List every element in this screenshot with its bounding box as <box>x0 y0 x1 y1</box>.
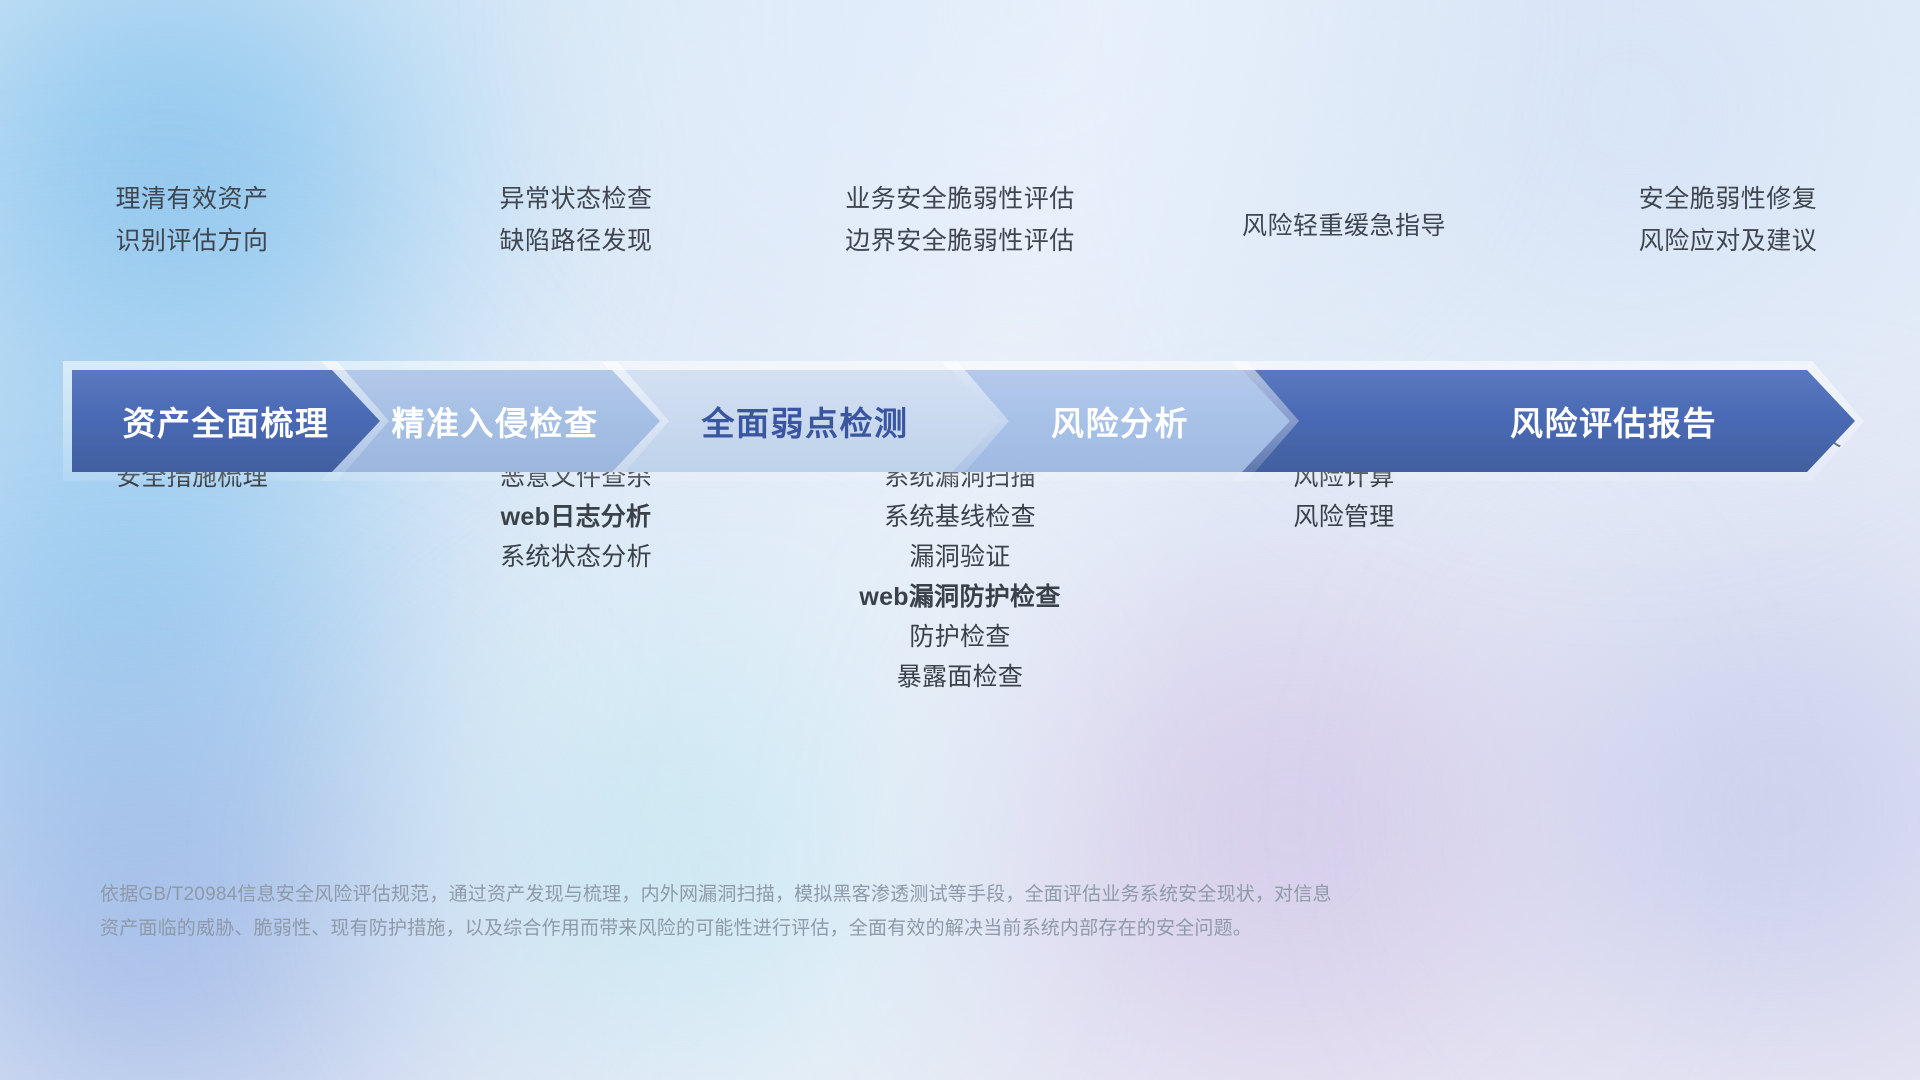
top-item: 识别评估方向 <box>115 220 268 262</box>
top-item: 缺陷路径发现 <box>499 220 652 262</box>
top-item: 风险轻重缓急指导 <box>1242 205 1446 247</box>
bottom-item: 暴露面检查 <box>897 657 1024 697</box>
bottom-item: web日志分析 <box>501 497 652 537</box>
bottom-item: 漏洞验证 <box>909 537 1010 577</box>
footer-description: 依据GB/T20984信息安全风险评估规范，通过资产发现与梳理，内外网漏洞扫描，… <box>100 878 1740 946</box>
top-column-intrusion-check: 异常状态检查 缺陷路径发现 <box>384 178 768 262</box>
chevron-label: 精准入侵检查 <box>392 397 599 445</box>
chevron-label: 全面弱点检测 <box>702 397 909 445</box>
top-item: 安全脆弱性修复 <box>1639 178 1818 220</box>
top-column-weakness-detection: 业务安全脆弱性评估 边界安全脆弱性评估 <box>768 178 1152 262</box>
process-chevron-band: 资产全面梳理 精准入侵检查 全面弱点检测 风险分析 风险评估报告 <box>0 370 1920 472</box>
bottom-item: 系统状态分析 <box>500 537 652 577</box>
top-descriptor-row: 理清有效资产 识别评估方向 异常状态检查 缺陷路径发现 业务安全脆弱性评估 边界… <box>0 178 1920 262</box>
top-column-risk-analysis: 风险轻重缓急指导 <box>1152 178 1536 262</box>
footer-line-1: 依据GB/T20984信息安全风险评估规范，通过资产发现与梳理，内外网漏洞扫描，… <box>100 878 1740 912</box>
footer-line-2: 资产面临的威胁、脆弱性、现有防护措施，以及综合作用而带来风险的可能性进行评估，全… <box>100 912 1740 946</box>
chevron-label: 风险评估报告 <box>1510 397 1717 445</box>
bottom-item: 防护检查 <box>909 617 1010 657</box>
bottom-item: 系统基线检查 <box>884 497 1036 537</box>
top-column-assessment-report: 安全脆弱性修复 风险应对及建议 <box>1536 178 1920 262</box>
chevron-label: 资产全面梳理 <box>123 397 330 445</box>
top-item: 边界安全脆弱性评估 <box>845 220 1075 262</box>
chevron-stage-assessment-report[interactable]: 风险评估报告 <box>1240 370 1855 472</box>
top-item: 理清有效资产 <box>115 178 268 220</box>
bottom-item: web漏洞防护检查 <box>859 577 1060 617</box>
top-item: 风险应对及建议 <box>1639 220 1818 262</box>
diagram-stage: 理清有效资产 识别评估方向 异常状态检查 缺陷路径发现 业务安全脆弱性评估 边界… <box>0 0 1920 1080</box>
bottom-item: 风险管理 <box>1293 497 1394 537</box>
chevron-stage-asset-inventory[interactable]: 资产全面梳理 <box>72 370 380 472</box>
top-column-asset-inventory: 理清有效资产 识别评估方向 <box>0 178 384 262</box>
top-item: 业务安全脆弱性评估 <box>845 178 1075 220</box>
chevron-label: 风险分析 <box>1051 397 1189 445</box>
top-item: 异常状态检查 <box>499 178 652 220</box>
